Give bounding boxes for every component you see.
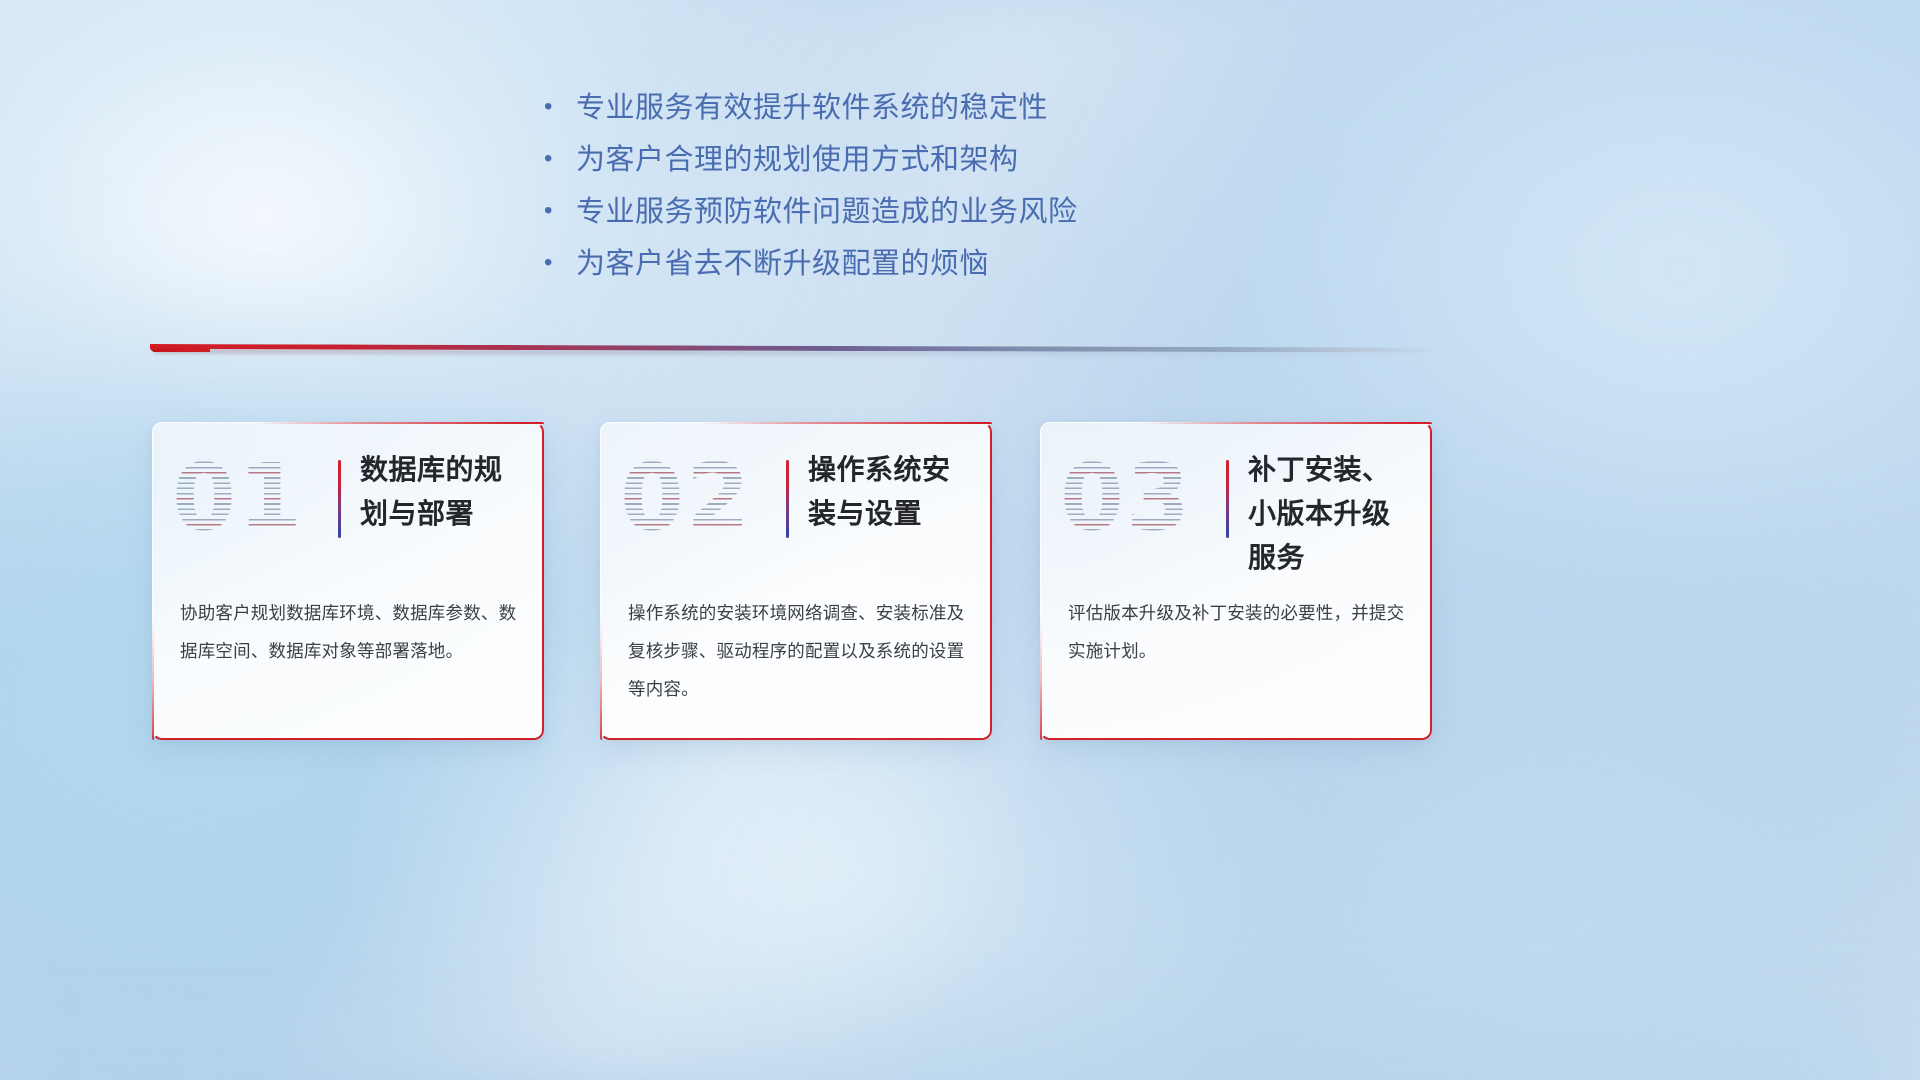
card-description: 操作系统的安装环境网络调查、安装标准及复核步骤、驱动程序的配置以及系统的设置等内…	[628, 594, 966, 708]
card-accent-left-edge	[600, 619, 602, 740]
slide-canvas: • 专业服务有效提升软件系统的稳定性 • 为客户合理的规划使用方式和架构 • 专…	[0, 0, 1920, 1080]
card-title: 补丁安装、小版本升级服务	[1248, 448, 1416, 580]
card-number-watermark: 03	[1060, 446, 1200, 550]
card-number-watermark: 02	[620, 446, 760, 550]
card-accent-left-edge	[1040, 619, 1042, 740]
service-card[interactable]: 03 03 补丁安装、小版本升级服务 评估版本升级及补丁安装的必要性，并提交实施…	[1040, 422, 1432, 740]
card-title: 操作系统安装与设置	[808, 448, 976, 536]
card-divider-bar	[338, 460, 341, 538]
card-accent-left-edge	[152, 619, 154, 740]
card-description: 协助客户规划数据库环境、数据库参数、数据库空间、数据库对象等部署落地。	[180, 594, 518, 670]
card-header: 03 03 补丁安装、小版本升级服务	[1040, 422, 1432, 572]
service-card[interactable]: 01 01 数据库的规划与部署 协助客户规划数据库环境、数据库参数、数据库空间、…	[152, 422, 544, 740]
card-divider-bar	[786, 460, 789, 538]
card-divider-bar	[1226, 460, 1229, 538]
service-card-group: 01 01 数据库的规划与部署 协助客户规划数据库环境、数据库参数、数据库空间、…	[0, 0, 1920, 1080]
card-header: 01 01 数据库的规划与部署	[152, 422, 544, 572]
card-header: 02 02 操作系统安装与设置	[600, 422, 992, 572]
service-card[interactable]: 02 02 操作系统安装与设置 操作系统的安装环境网络调查、安装标准及复核步骤、…	[600, 422, 992, 740]
card-title: 数据库的规划与部署	[360, 448, 528, 536]
card-description: 评估版本升级及补丁安装的必要性，并提交实施计划。	[1068, 594, 1406, 670]
card-number-watermark: 01	[172, 446, 312, 550]
